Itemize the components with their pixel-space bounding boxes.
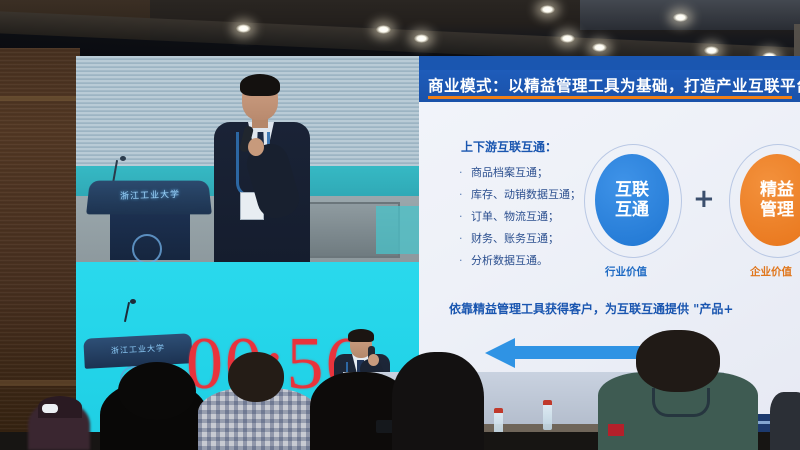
left-circle: 互联 互通: [595, 154, 669, 246]
list-item-label: 库存、动销数据互通；: [471, 188, 581, 201]
slide-middle-text: 依靠精益管理工具获得客户，为互联互通提供 "产品+: [449, 300, 734, 317]
right-circle-line2: 管理: [760, 200, 794, 220]
plus-operator: +: [693, 184, 715, 214]
list-item: [118, 362, 196, 420]
spotlight-icon: [560, 34, 575, 43]
list-item: ·商品档案互通；: [459, 164, 548, 180]
podium-microphone-icon: [120, 156, 126, 161]
speaker-hand: [248, 138, 264, 156]
left-circle-line1: 互联: [615, 180, 649, 200]
bullet-dot-icon: ·: [459, 210, 471, 223]
water-bottle-cap: [543, 400, 552, 405]
stage-speaker-hand: [368, 354, 379, 366]
list-item-label: 商品档案互通；: [471, 166, 548, 179]
ceiling-right-panel: [580, 0, 800, 30]
podium-lower-mic-icon: [130, 299, 136, 304]
spotlight-icon: [414, 34, 429, 43]
water-bottle-cap: [494, 408, 503, 413]
slide-title-underline: [428, 96, 792, 99]
list-item: ·分析数据互通。: [459, 252, 548, 268]
list-item: [392, 352, 484, 450]
camera-feed-panel: 浙江工业大学: [76, 56, 419, 262]
list-item: [636, 330, 720, 392]
bullet-dot-icon: ·: [459, 232, 471, 245]
wall-trim: [0, 380, 80, 386]
hair-clip-icon: [42, 404, 58, 413]
bullets-heading: 上下游互联互通：: [461, 138, 557, 155]
spotlight-icon: [673, 13, 688, 22]
right-circle-caption: 企业价值: [750, 264, 792, 279]
feed-background-teal-block: [376, 206, 419, 254]
bullet-dot-icon: ·: [459, 254, 471, 267]
list-item: ·库存、动销数据互通；: [459, 186, 581, 202]
spotlight-icon: [376, 25, 391, 34]
podium: 浙江工业大学: [88, 180, 210, 260]
list-item: ·财务、账务互通；: [459, 230, 559, 246]
list-item: ·订单、物流互通；: [459, 208, 559, 224]
spotlight-icon: [540, 5, 555, 14]
spotlight-icon: [704, 46, 719, 55]
arrow-head: [485, 338, 515, 368]
stage-speaker-hair: [348, 329, 374, 342]
water-bottle: [543, 404, 552, 430]
slide-top-band: [419, 56, 800, 70]
list-item: [770, 392, 800, 450]
spotlight-icon: [592, 43, 607, 52]
conference-photo: 浙江工业大学 浙江工业大学: [0, 0, 800, 450]
wood-wall-left: [0, 48, 80, 450]
slide-title: 商业模式：以精益管理工具为基础，打造产业互联平台: [428, 74, 793, 96]
wall-trim: [0, 96, 80, 101]
list-item: [228, 352, 284, 402]
podium-seal-icon: [132, 234, 162, 262]
list-item-label: 分析数据互通。: [471, 254, 548, 267]
list-item-label: 订单、物流互通；: [471, 210, 559, 223]
right-circle-line1: 精益: [760, 180, 794, 200]
spotlight-icon: [236, 24, 251, 33]
left-circle-line2: 互通: [615, 200, 649, 220]
speaker-hair: [240, 74, 280, 96]
bullet-dot-icon: ·: [459, 166, 471, 179]
lanyard: [652, 388, 710, 417]
list-item-label: 财务、账务互通；: [471, 232, 559, 245]
badge-red: [608, 424, 624, 436]
left-circle-caption: 行业价值: [605, 264, 647, 279]
bullet-dot-icon: ·: [459, 188, 471, 201]
